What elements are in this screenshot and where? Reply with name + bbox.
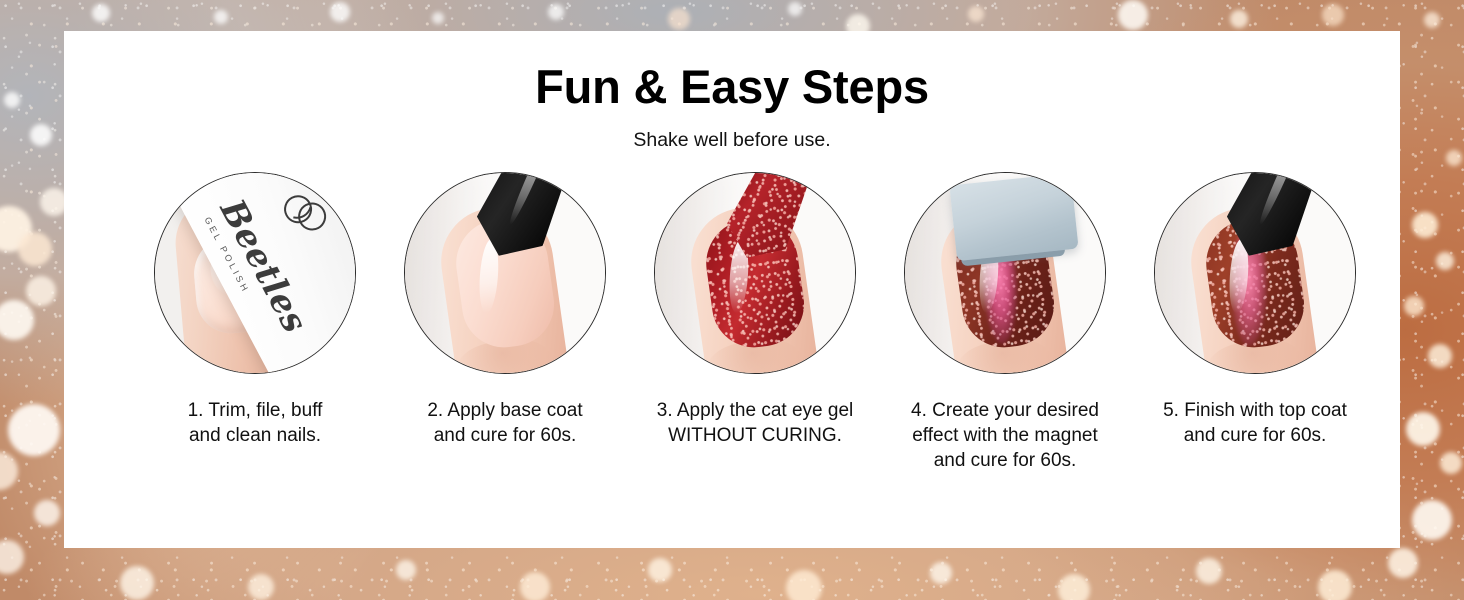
step-3: 3. Apply the cat eye gel WITHOUT CURING. (630, 172, 880, 473)
page-title: Fun & Easy Steps (64, 62, 1400, 113)
step-5-caption: 5. Finish with top coat and cure for 60s… (1131, 398, 1379, 448)
steps-row: Beetles GEL POLISH ® 1. Trim, file, buff… (64, 172, 1400, 473)
content-card: Fun & Easy Steps Shake well before use. (64, 31, 1400, 548)
step-4-caption: 4. Create your desired effect with the m… (881, 398, 1129, 473)
step-1-caption: 1. Trim, file, buff and clean nails. (131, 398, 379, 448)
step-2: 2. Apply base coat and cure for 60s. (380, 172, 630, 473)
step-1-photo: Beetles GEL POLISH ® (154, 172, 356, 374)
promo-banner: Fun & Easy Steps Shake well before use. (0, 0, 1464, 600)
magnet-tool (949, 173, 1078, 261)
step-4: 4. Create your desired effect with the m… (880, 172, 1130, 473)
step-3-photo (654, 172, 856, 374)
step-2-caption: 2. Apply base coat and cure for 60s. (381, 398, 629, 448)
step-2-photo (404, 172, 606, 374)
step-4-photo (904, 172, 1106, 374)
step-5: 5. Finish with top coat and cure for 60s… (1130, 172, 1380, 473)
page-subtitle: Shake well before use. (64, 129, 1400, 152)
step-5-photo (1154, 172, 1356, 374)
header-block: Fun & Easy Steps Shake well before use. (64, 31, 1400, 152)
step-1: Beetles GEL POLISH ® 1. Trim, file, buff… (130, 172, 380, 473)
step-3-caption: 3. Apply the cat eye gel WITHOUT CURING. (631, 398, 879, 448)
